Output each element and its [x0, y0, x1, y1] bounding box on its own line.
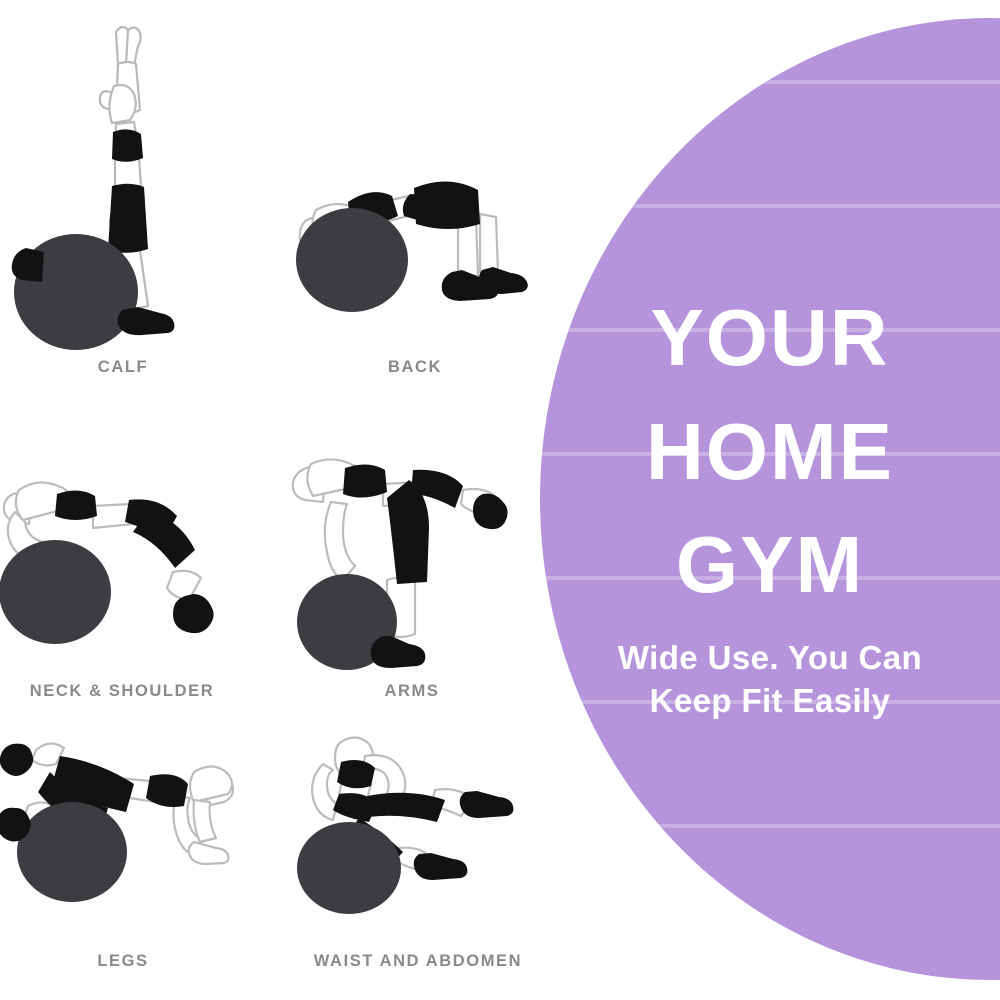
exercise-item-waist-abdomen[interactable]: WAIST AND ABDOMEN [283, 720, 553, 971]
headline-line-2: HOME [646, 395, 894, 509]
exercise-item-neck-shoulder[interactable]: NECK & SHOULDER [0, 450, 257, 701]
exercise-item-legs[interactable]: LEGS [0, 720, 258, 971]
headline-line-1: YOUR [650, 281, 889, 395]
exercise-label: BACK [388, 358, 442, 377]
infographic-canvas: CALF [0, 0, 1000, 1000]
exercise-ball-arm-press-icon [287, 450, 537, 690]
exercise-ball-back-bridge-icon [290, 140, 540, 350]
subhead-line-1: Wide Use. You Can [618, 636, 922, 680]
headline-line-3: GYM [676, 508, 864, 622]
exercise-ball-side-crunch-icon [293, 720, 543, 960]
exercise-ball-plank-icon [0, 450, 247, 690]
promo-panel: YOUR HOME GYM Wide Use. You Can Keep Fit… [540, 18, 1000, 980]
exercise-item-calf[interactable]: CALF [0, 20, 258, 377]
exercise-label: CALF [98, 358, 148, 377]
exercise-ball-calf-raise-icon [0, 20, 248, 350]
promo-text-block: YOUR HOME GYM Wide Use. You Can Keep Fit… [540, 18, 1000, 980]
exercise-item-arms[interactable]: ARMS [277, 450, 547, 701]
exercise-ball-leg-raise-icon [0, 720, 248, 960]
exercise-item-back[interactable]: BACK [280, 140, 550, 377]
exercise-grid: CALF [0, 0, 540, 1000]
subhead-line-2: Keep Fit Easily [650, 679, 891, 723]
